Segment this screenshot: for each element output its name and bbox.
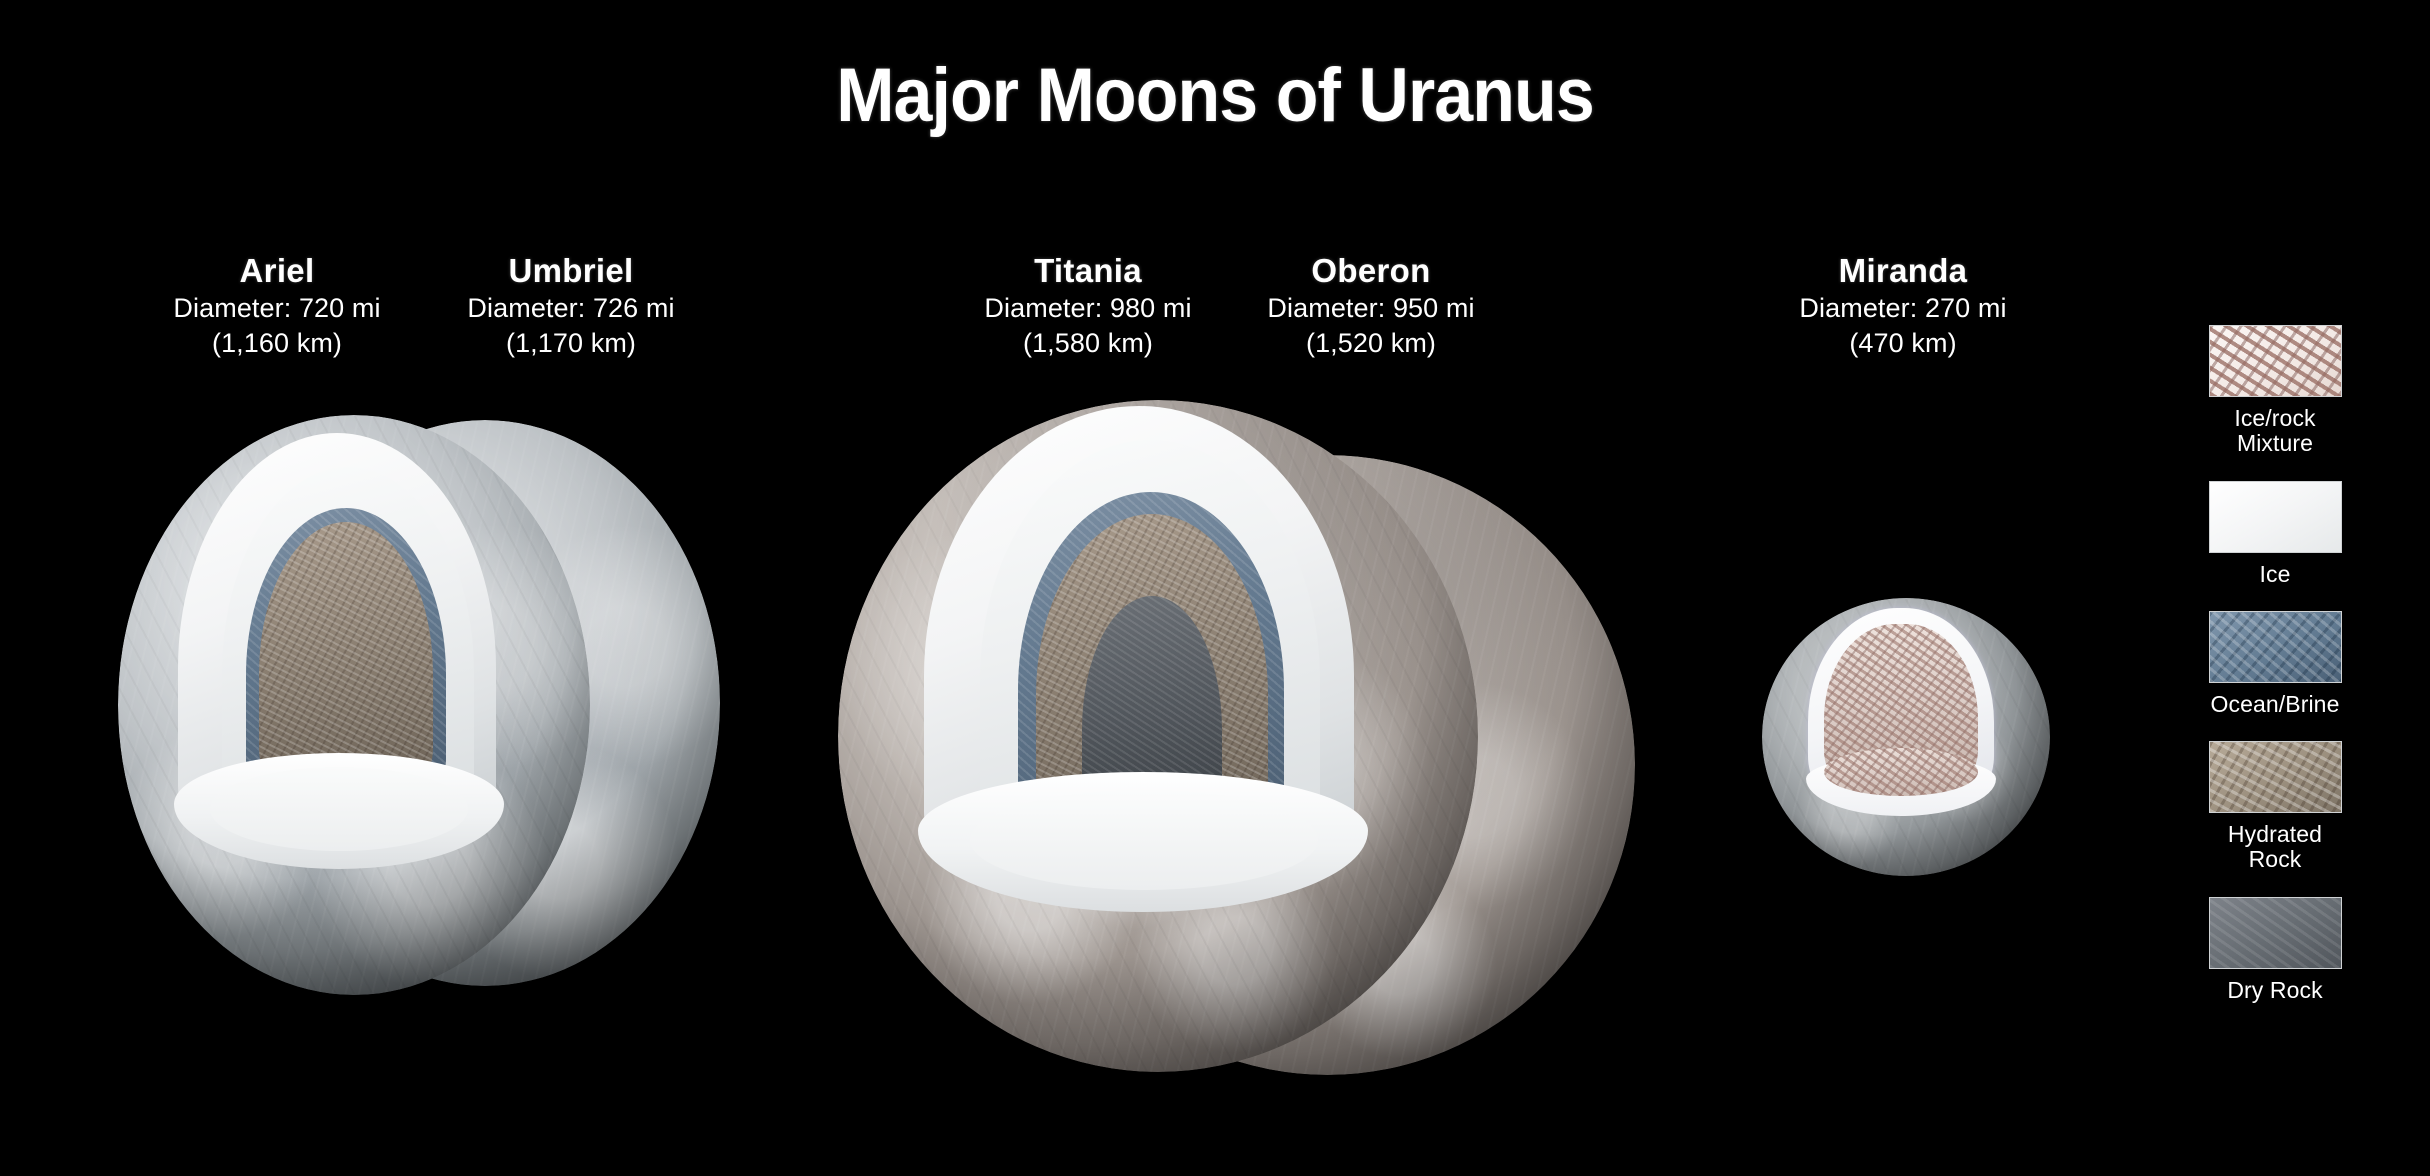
titania-cut-floor-inner [970,790,1318,890]
legend-swatch-ocean-brine [2209,611,2342,683]
moon-name-titania: Titania [984,252,1191,291]
legend: Ice/rock Mixture Ice Ocean/Brine Hydrate… [2200,325,2350,1027]
legend-swatch-hydrated-rock [2209,741,2342,813]
legend-item-ice-rock-mixture: Ice/rock Mixture [2200,325,2350,457]
moon-diameter-mi-ariel: Diameter: 720 mi [173,291,380,326]
legend-swatch-ice [2209,481,2342,553]
moon-diameter-km-ariel: (1,160 km) [173,326,380,361]
moon-diameter-km-umbriel: (1,170 km) [467,326,674,361]
legend-item-ice: Ice [2200,481,2350,587]
legend-label-dry-rock: Dry Rock [2200,978,2350,1003]
legend-item-hydrated-rock: Hydrated Rock [2200,741,2350,873]
legend-swatch-ice-rock-mixture [2209,325,2342,397]
legend-swatch-dry-rock [2209,897,2342,969]
moon-name-miranda: Miranda [1799,252,2006,291]
moon-diameter-mi-oberon: Diameter: 950 mi [1267,291,1474,326]
page-title: Major Moons of Uranus [97,52,2333,139]
legend-item-dry-rock: Dry Rock [2200,897,2350,1003]
moon-diameter-km-miranda: (470 km) [1799,326,2006,361]
legend-label-ice-rock-mixture: Ice/rock Mixture [2200,406,2350,457]
legend-label-ocean-brine: Ocean/Brine [2200,692,2350,717]
miranda-cutaway [1762,598,2050,876]
moon-caption-umbriel: Umbriel Diameter: 726 mi (1,170 km) [467,252,674,361]
miranda-cut-floor-inner [1824,748,1978,796]
moon-caption-miranda: Miranda Diameter: 270 mi (470 km) [1799,252,2006,361]
moon-sphere-miranda [1762,598,2050,876]
infographic-canvas: Major Moons of Uranus Ariel Diameter: 72… [0,0,2430,1176]
moon-caption-ariel: Ariel Diameter: 720 mi (1,160 km) [173,252,380,361]
moon-diameter-km-titania: (1,580 km) [984,326,1191,361]
moon-caption-oberon: Oberon Diameter: 950 mi (1,520 km) [1267,252,1474,361]
ariel-cutaway [118,415,590,995]
moon-diameter-km-oberon: (1,520 km) [1267,326,1474,361]
moon-name-ariel: Ariel [173,252,380,291]
legend-label-ice: Ice [2200,562,2350,587]
moon-diameter-mi-miranda: Diameter: 270 mi [1799,291,2006,326]
moon-sphere-ariel [118,415,590,995]
ariel-cut-floor-inner [210,767,468,851]
moon-caption-titania: Titania Diameter: 980 mi (1,580 km) [984,252,1191,361]
moon-diameter-mi-titania: Diameter: 980 mi [984,291,1191,326]
moon-diameter-mi-umbriel: Diameter: 726 mi [467,291,674,326]
legend-item-ocean-brine: Ocean/Brine [2200,611,2350,717]
legend-label-hydrated-rock: Hydrated Rock [2200,822,2350,873]
moon-name-oberon: Oberon [1267,252,1474,291]
moon-sphere-titania [838,400,1478,1072]
moon-name-umbriel: Umbriel [467,252,674,291]
titania-cutaway [838,400,1478,1072]
